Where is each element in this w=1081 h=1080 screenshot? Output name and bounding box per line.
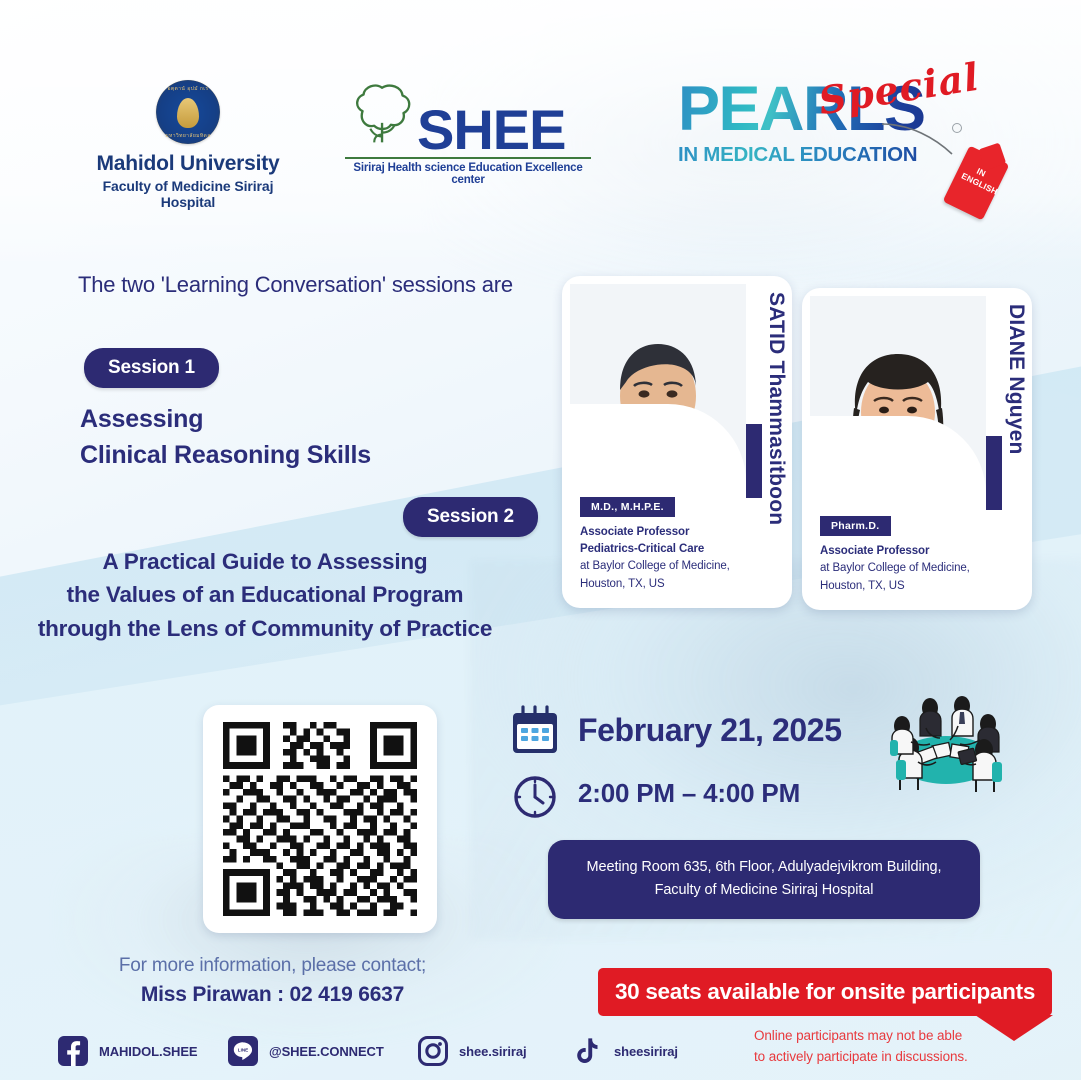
seats-banner-wrap: 30 seats available for onsite participan… <box>598 968 1068 1016</box>
price-tag-icon: IN ENGLISH <box>930 126 1026 222</box>
shee-logo: SHEE Siriraj Health science Education Ex… <box>345 78 595 186</box>
instagram-icon[interactable] <box>418 1036 448 1066</box>
venue-line-1: Meeting Room 635, 6th Floor, Adulyadejvi… <box>566 856 962 879</box>
line-icon[interactable]: LINE <box>228 1036 258 1066</box>
speaker-credential: Pharm.D. <box>820 516 891 536</box>
session-2-badge: Session 2 <box>403 497 538 537</box>
speaker-name: DIANE Nguyen <box>1004 304 1028 455</box>
speaker-portrait-male <box>570 284 746 522</box>
event-date: February 21, 2025 <box>578 712 842 749</box>
speaker-credential: M.D., M.H.P.E. <box>580 497 675 517</box>
social-facebook[interactable]: MAHIDOL.SHEE <box>58 1036 197 1066</box>
session-2-line-3: through the Lens of Community of Practic… <box>0 612 530 645</box>
speaker-location: Houston, TX, US <box>580 576 770 594</box>
seal-thai-top-text: อตฺตานํ อุปมํ กเร <box>156 85 220 93</box>
session-1-badge: Session 1 <box>84 348 219 388</box>
speaker-specialty: Pediatrics-Critical Care <box>580 541 770 558</box>
speaker-affiliation: at Baylor College of Medicine, <box>820 560 1010 578</box>
qr-code-card[interactable] <box>203 705 437 933</box>
tag-text: IN ENGLISH <box>960 161 998 194</box>
pearls-logo: PEARLS IN MEDICAL EDUCATION Special IN E… <box>678 78 1028 218</box>
tag-hole <box>952 123 962 133</box>
clock-icon <box>510 772 560 827</box>
speaker-affiliation: at Baylor College of Medicine, <box>580 558 770 576</box>
mahidol-name: Mahidol University <box>78 152 298 176</box>
speaker-name: SATID Thammasitboon <box>764 292 788 525</box>
facebook-icon[interactable] <box>58 1036 88 1066</box>
speaker-portrait-female <box>810 296 986 534</box>
mahidol-seal-icon: อตฺตานํ อุปมํ กเร มหาวิทยาลัยมหิดล <box>156 80 220 144</box>
event-time: 2:00 PM – 4:00 PM <box>578 778 800 809</box>
venue-banner: Meeting Room 635, 6th Floor, Adulyadejvi… <box>548 840 980 919</box>
contact-person: Miss Pirawan : 02 419 6637 <box>0 983 545 1007</box>
speaker-info: Pharm.D. Associate Professor at Baylor C… <box>820 516 1010 596</box>
qr-code-icon[interactable] <box>223 722 417 916</box>
speaker-card: SATID Thammasitboon M.D., M.H.P.E. Assoc… <box>562 276 792 608</box>
session-1-line-1: Assessing <box>80 402 371 438</box>
intro-text: The two 'Learning Conversation' sessions… <box>78 272 513 298</box>
speaker-role: Associate Professor <box>820 543 1010 560</box>
calendar-icon-svg <box>508 704 562 758</box>
shee-tagline: Siriraj Health science Education Excelle… <box>345 162 591 186</box>
venue-line-2: Faculty of Medicine Siriraj Hospital <box>566 879 962 902</box>
social-instagram[interactable]: shee.siriraj <box>418 1036 526 1066</box>
seal-thai-bottom-text: มหาวิทยาลัยมหิดล <box>156 132 220 140</box>
session-2-title: A Practical Guide to Assessing the Value… <box>0 545 530 645</box>
speaker-role: Associate Professor <box>580 524 770 541</box>
speaker-info: M.D., M.H.P.E. Associate Professor Pedia… <box>580 497 770 594</box>
session-1-title: Assessing Clinical Reasoning Skills <box>80 402 371 473</box>
instagram-handle[interactable]: shee.siriraj <box>459 1044 526 1059</box>
tiktok-icon[interactable] <box>573 1036 603 1066</box>
speaker-card: DIANE Nguyen Pharm.D. Associate Professo… <box>802 288 1032 610</box>
social-line[interactable]: LINE @SHEE.CONNECT <box>228 1036 384 1066</box>
tiktok-handle[interactable]: sheesiriraj <box>614 1044 678 1059</box>
speaker-location: Houston, TX, US <box>820 578 1010 596</box>
facebook-handle[interactable]: MAHIDOL.SHEE <box>99 1044 197 1059</box>
mahidol-university-logo: อตฺตานํ อุปมํ กเร มหาวิทยาลัยมหิดล Mahid… <box>78 80 298 210</box>
session-2-line-1: A Practical Guide to Assessing <box>0 545 530 578</box>
poster-canvas: อตฺตานํ อุปมํ กเร มหาวิทยาลัยมหิดล Mahid… <box>0 0 1081 1080</box>
tree-icon <box>345 78 423 156</box>
clock-icon-svg <box>510 772 560 822</box>
footer-social-bar: MAHIDOL.SHEE LINE @SHEE.CONNECT shee.sir… <box>0 1022 1081 1080</box>
roundtable-illustration-svg <box>866 688 1026 798</box>
shee-wordmark: SHEE <box>417 104 566 156</box>
session-2-line-2: the Values of an Educational Program <box>0 578 530 611</box>
roundtable-discussion-icon <box>866 688 1026 798</box>
contact-prompt: For more information, please contact; <box>0 955 545 977</box>
svg-text:LINE: LINE <box>238 1048 248 1053</box>
line-handle[interactable]: @SHEE.CONNECT <box>269 1044 384 1059</box>
social-tiktok[interactable]: sheesiriraj <box>573 1036 678 1066</box>
seats-banner: 30 seats available for onsite participan… <box>598 968 1052 1016</box>
session-1-line-2: Clinical Reasoning Skills <box>80 438 371 474</box>
header-logos: อตฺตานํ อุปมํ กเร มหาวิทยาลัยมหิดล Mahid… <box>0 60 1081 220</box>
mahidol-faculty: Faculty of Medicine Siriraj Hospital <box>78 178 298 210</box>
calendar-icon <box>508 704 562 763</box>
